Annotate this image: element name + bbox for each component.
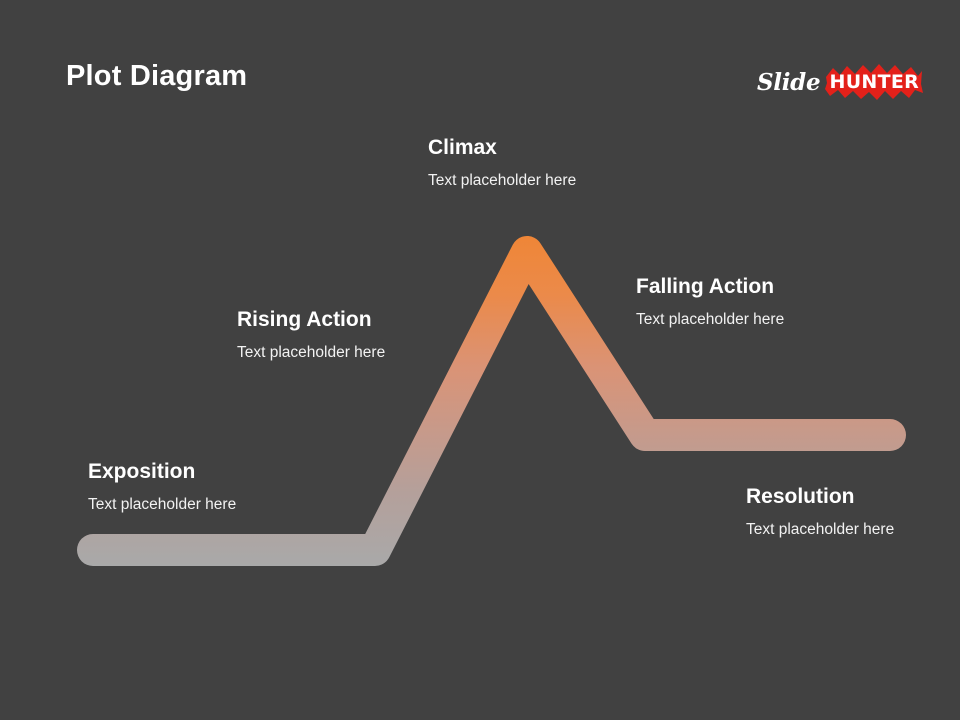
stage-title-exposition: Exposition <box>88 459 236 484</box>
stage-label-exposition: Exposition Text placeholder here <box>88 459 236 515</box>
slide-canvas: Plot Diagram Slide HUNTER <box>0 0 960 720</box>
stage-label-falling-action: Falling Action Text placeholder here <box>636 274 784 330</box>
stage-description-falling-action: Text placeholder here <box>636 311 784 330</box>
stage-title-falling-action: Falling Action <box>636 274 784 299</box>
stage-label-rising-action: Rising Action Text placeholder here <box>237 307 385 363</box>
plot-diagram-curve <box>0 0 960 720</box>
stage-description-exposition: Text placeholder here <box>88 496 236 515</box>
stage-description-rising-action: Text placeholder here <box>237 344 385 363</box>
stage-description-climax: Text placeholder here <box>428 172 576 191</box>
stage-title-rising-action: Rising Action <box>237 307 385 332</box>
stage-label-resolution: Resolution Text placeholder here <box>746 484 894 540</box>
stage-title-climax: Climax <box>428 135 576 160</box>
stage-label-climax: Climax Text placeholder here <box>428 135 576 191</box>
stage-description-resolution: Text placeholder here <box>746 521 894 540</box>
stage-title-resolution: Resolution <box>746 484 894 509</box>
